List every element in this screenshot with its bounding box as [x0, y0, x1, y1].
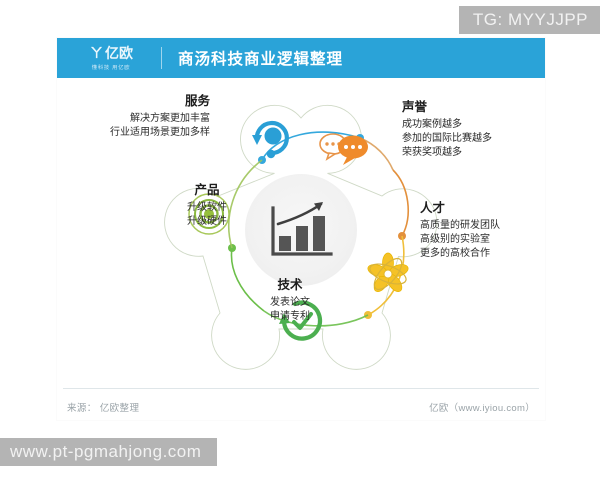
card-footer: 来源： 亿欧整理 亿欧（www.iyiou.com） [57, 378, 545, 420]
screenshot-root: 亿欧 懂科技 用亿欧 商汤科技商业逻辑整理 [0, 0, 600, 480]
node-line: 高质量的研发团队 [420, 219, 500, 233]
node-line: 成功案例越多 [402, 118, 492, 132]
node-line: 高级别的实验室 [420, 233, 500, 247]
node-lines-technology: 发表论文 申请专利 [270, 296, 310, 324]
node-label-service: 服务 解决方案更加丰富 行业适用场景更加多样 [110, 94, 210, 140]
node-title-service: 服务 [110, 94, 210, 110]
footer-divider [63, 388, 539, 389]
footer-attribution: 亿欧（www.iyiou.com） [429, 400, 535, 414]
brand-logo[interactable]: 亿欧 懂科技 用亿欧 [57, 45, 159, 71]
footer-source: 来源： 亿欧整理 [67, 400, 139, 414]
header-divider [161, 47, 162, 69]
node-line: 发表论文 [270, 296, 310, 310]
node-lines-reputation: 成功案例越多 参加的国际比赛越多 荣获奖项越多 [402, 118, 492, 161]
logo-wordmark: 亿欧 [105, 46, 133, 60]
node-line: 行业适用场景更加多样 [110, 126, 210, 140]
node-label-technology: 技术 发表论文 申请专利 [270, 278, 310, 324]
node-lines-service: 解决方案更加丰富 行业适用场景更加多样 [110, 112, 210, 140]
node-title-product: 产品 [187, 183, 227, 199]
node-title-reputation: 声誉 [402, 100, 492, 116]
y-shaped-logo-icon [89, 45, 104, 60]
node-line: 解决方案更加丰富 [110, 112, 210, 126]
diagram-stage: 服务 解决方案更加丰富 行业适用场景更加多样 声誉 成功案例越多 参加的国际比赛… [57, 78, 545, 378]
node-title-technology: 技术 [270, 278, 310, 294]
node-line: 更多的高校合作 [420, 247, 500, 261]
node-line: 升级硬件 [187, 215, 227, 229]
watermark-bottom-left: www.pt-pgmahjong.com [0, 438, 217, 466]
card-header: 亿欧 懂科技 用亿欧 商汤科技商业逻辑整理 [57, 38, 545, 78]
logo-tagline: 懂科技 用亿欧 [92, 63, 131, 71]
infographic-card: 亿欧 懂科技 用亿欧 商汤科技商业逻辑整理 [57, 38, 545, 420]
node-line: 荣获奖项越多 [402, 146, 492, 160]
node-lines-talent: 高质量的研发团队 高级别的实验室 更多的高校合作 [420, 219, 500, 262]
node-lines-product: 升级软件 升级硬件 [187, 201, 227, 229]
node-label-talent: 人才 高质量的研发团队 高级别的实验室 更多的高校合作 [420, 201, 500, 261]
node-line: 升级软件 [187, 201, 227, 215]
node-title-talent: 人才 [420, 201, 500, 217]
node-line: 参加的国际比赛越多 [402, 132, 492, 146]
node-line: 申请专利 [270, 310, 310, 324]
node-label-product: 产品 升级软件 升级硬件 [187, 183, 227, 229]
logo-row: 亿欧 [89, 45, 133, 60]
watermark-top-right: TG: MYYJJPP [459, 6, 600, 34]
page-title: 商汤科技商业逻辑整理 [178, 47, 343, 69]
node-label-reputation: 声誉 成功案例越多 参加的国际比赛越多 荣获奖项越多 [402, 100, 492, 160]
